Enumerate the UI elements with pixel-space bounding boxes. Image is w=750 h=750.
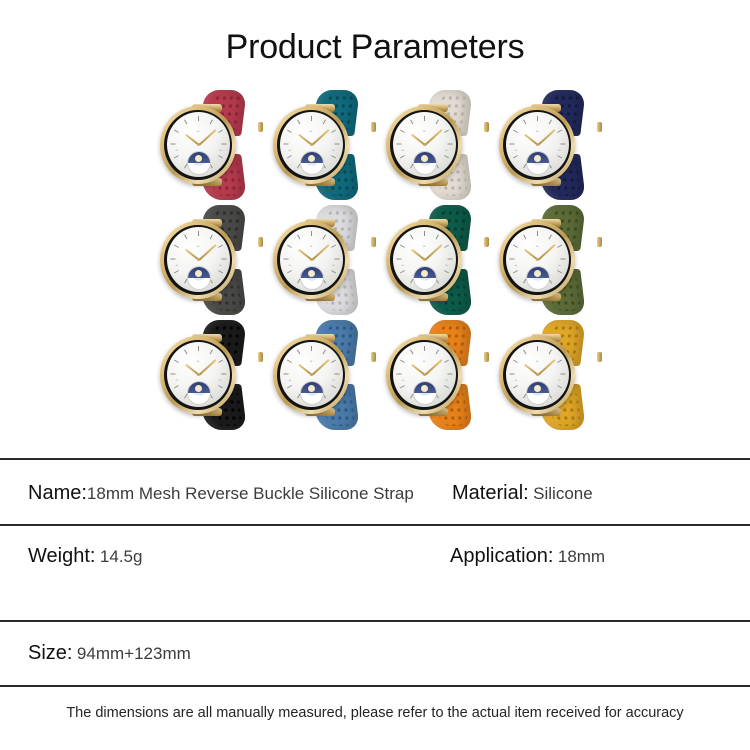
hour-tick <box>331 130 336 133</box>
spec-key-material: Material: <box>452 482 529 504</box>
hour-tick <box>210 120 213 125</box>
hour-tick <box>561 374 566 375</box>
hour-tick <box>297 235 300 240</box>
hour-tick <box>184 120 187 125</box>
moon-disc <box>308 270 315 277</box>
hour-tick <box>444 245 449 248</box>
watch-dial: ••••••••• <box>167 227 230 292</box>
spec-application-group: Application: 18mm <box>450 545 605 568</box>
bezel-ring: ••••••••• <box>164 110 232 180</box>
minute-hand <box>198 244 216 261</box>
hour-tick <box>174 270 179 273</box>
hour-tick <box>523 120 526 125</box>
moon-disc <box>195 155 202 162</box>
watch-dial: ••••••••• <box>393 342 456 407</box>
bezel-ring: ••••••••• <box>277 225 345 295</box>
hour-tick <box>557 155 562 158</box>
spec-value-application: 18mm <box>558 547 605 566</box>
product-variant-gray-strap-watch[interactable]: ••••••••• <box>152 203 264 318</box>
spec-weight-group: Weight: 14.5g <box>28 545 142 568</box>
product-variant-red-strap-watch[interactable]: ••••••••• <box>152 88 264 203</box>
moon-sky <box>527 152 549 163</box>
hour-tick <box>513 130 518 133</box>
watch-illustration: ••••••••• <box>495 207 599 315</box>
moon-disc <box>534 155 541 162</box>
dial-marking: ••• <box>219 263 222 267</box>
hour-tick <box>210 235 213 240</box>
hand-pivot <box>310 258 313 261</box>
dial-marking: ••• <box>176 263 179 267</box>
moon-disc <box>421 270 428 277</box>
watch-illustration: ••••••••• <box>495 322 599 430</box>
hour-tick <box>513 385 518 388</box>
spec-row-name: Name:18mm Mesh Reverse Buckle Silicone S… <box>0 482 750 526</box>
minute-hand <box>311 359 329 376</box>
watch-case: ••••••••• <box>499 106 575 184</box>
hour-tick <box>174 155 179 158</box>
dial-marking: ••• <box>219 148 222 152</box>
bezel-ring: ••••••••• <box>390 110 458 180</box>
hour-tick <box>397 144 402 145</box>
hand-pivot <box>197 143 200 146</box>
moon-sky <box>414 267 436 278</box>
product-variant-teal-strap-watch[interactable]: ••••••••• <box>265 88 377 203</box>
minute-hand <box>424 129 442 146</box>
crown-button <box>597 122 602 132</box>
moon-disc <box>308 385 315 392</box>
hour-tick <box>400 360 405 363</box>
hour-tick <box>174 385 179 388</box>
dial-marking: ••• <box>402 263 405 267</box>
hour-tick <box>513 245 518 248</box>
hour-tick <box>400 270 405 273</box>
moon-phase-subdial <box>526 381 550 405</box>
dial-marking: ••• <box>558 263 561 267</box>
hour-tick <box>557 385 562 388</box>
hour-tick <box>537 231 538 236</box>
bezel-ring: ••••••••• <box>503 225 571 295</box>
hour-tick <box>198 116 199 121</box>
hand-pivot <box>423 373 426 376</box>
watch-case: ••••••••• <box>273 106 349 184</box>
dial-marking: ••• <box>515 378 518 382</box>
watch-illustration: ••••••••• <box>156 207 260 315</box>
dial-marking: ••• <box>445 263 448 267</box>
hour-tick <box>510 259 515 260</box>
hour-tick <box>444 385 449 388</box>
hour-tick <box>287 155 292 158</box>
moon-phase-subdial <box>413 266 437 290</box>
hour-tick <box>174 360 179 363</box>
dial-marking: ••• <box>515 263 518 267</box>
hour-tick <box>410 120 413 125</box>
crown-button <box>597 352 602 362</box>
hour-tick <box>557 130 562 133</box>
hour-tick <box>513 155 518 158</box>
hour-tick <box>557 245 562 248</box>
hour-tick <box>410 350 413 355</box>
watch-illustration: ••••••••• <box>495 92 599 200</box>
bezel-ring: ••••••••• <box>164 225 232 295</box>
divider-after-size <box>0 685 750 687</box>
hour-tick <box>537 116 538 121</box>
hour-tick <box>222 144 227 145</box>
hour-tick <box>171 144 176 145</box>
moon-sky <box>188 382 210 393</box>
moon-sky <box>188 267 210 278</box>
hour-tick <box>198 346 199 351</box>
moon-disc <box>195 270 202 277</box>
dial-marking: ••• <box>310 359 313 363</box>
page-title: Product Parameters <box>0 28 750 67</box>
watch-dial: ••••••••• <box>280 112 343 177</box>
hour-tick <box>171 259 176 260</box>
hour-tick <box>424 116 425 121</box>
hour-tick <box>444 130 449 133</box>
hour-tick <box>198 231 199 236</box>
dial-marking: ••• <box>536 359 539 363</box>
dial-marking: ••• <box>310 129 313 133</box>
moon-phase-subdial <box>187 151 211 175</box>
hour-tick <box>184 235 187 240</box>
watch-dial: ••••••••• <box>393 112 456 177</box>
watch-illustration: ••••••••• <box>382 207 486 315</box>
watch-case: ••••••••• <box>499 336 575 414</box>
product-variant-blue-strap-watch[interactable]: ••••••••• <box>265 318 377 433</box>
moon-sky <box>414 152 436 163</box>
hour-tick <box>410 235 413 240</box>
hour-tick <box>549 350 552 355</box>
hour-tick <box>287 360 292 363</box>
hand-pivot <box>536 258 539 261</box>
moon-sky <box>527 267 549 278</box>
bezel-ring: ••••••••• <box>277 110 345 180</box>
hour-tick <box>335 144 340 145</box>
dial-marking: ••• <box>402 148 405 152</box>
hour-tick <box>287 270 292 273</box>
dial-marking: ••• <box>423 359 426 363</box>
hour-tick <box>397 374 402 375</box>
hour-tick <box>311 116 312 121</box>
product-variant-mustard-strap-watch[interactable]: ••••••••• <box>491 318 603 433</box>
product-color-gallery: ••••••••••••••••••••••••••••••••••••••••… <box>152 88 602 433</box>
hour-tick <box>284 374 289 375</box>
moon-disc <box>421 155 428 162</box>
moon-phase-subdial <box>300 266 324 290</box>
hour-tick <box>510 374 515 375</box>
crown-button <box>258 122 263 132</box>
watch-case: ••••••••• <box>386 221 462 299</box>
crown-button <box>484 352 489 362</box>
hand-pivot <box>197 373 200 376</box>
hour-tick <box>510 144 515 145</box>
hour-tick <box>323 350 326 355</box>
hour-tick <box>400 245 405 248</box>
hour-tick <box>331 245 336 248</box>
spec-key-name: Name: <box>28 482 87 504</box>
hour-tick <box>284 144 289 145</box>
product-variant-black-strap-watch[interactable]: ••••••••• <box>152 318 264 433</box>
hour-tick <box>513 270 518 273</box>
hour-tick <box>331 155 336 158</box>
product-variant-olive-strap-watch[interactable]: ••••••••• <box>491 203 603 318</box>
spec-value-material: Silicone <box>533 484 593 503</box>
hour-tick <box>174 130 179 133</box>
spec-size-group: Size: 94mm+123mm <box>28 642 191 665</box>
divider-after-name <box>0 524 750 526</box>
watch-case: ••••••••• <box>160 336 236 414</box>
hour-tick <box>523 235 526 240</box>
watch-dial: ••••••••• <box>506 227 569 292</box>
watch-illustration: ••••••••• <box>156 92 260 200</box>
hour-tick <box>297 350 300 355</box>
divider-after-weight <box>0 620 750 622</box>
moon-phase-subdial <box>187 266 211 290</box>
hour-tick <box>444 360 449 363</box>
watch-case: ••••••••• <box>160 221 236 299</box>
watch-case: ••••••••• <box>160 106 236 184</box>
moon-sky <box>301 382 323 393</box>
dial-marking: ••• <box>332 263 335 267</box>
spec-name-group: Name:18mm Mesh Reverse Buckle Silicone S… <box>28 482 414 505</box>
hand-pivot <box>536 143 539 146</box>
moon-sky <box>301 267 323 278</box>
measurement-disclaimer: The dimensions are all manually measured… <box>0 705 750 721</box>
hour-tick <box>218 130 223 133</box>
bezel-ring: ••••••••• <box>164 340 232 410</box>
hour-tick <box>218 360 223 363</box>
bezel-ring: ••••••••• <box>390 340 458 410</box>
bezel-ring: ••••••••• <box>503 340 571 410</box>
crown-button <box>258 352 263 362</box>
hour-tick <box>210 350 213 355</box>
dial-marking: ••• <box>423 244 426 248</box>
dial-marking: ••• <box>536 244 539 248</box>
crown-button <box>371 122 376 132</box>
moon-phase-subdial <box>413 381 437 405</box>
hour-tick <box>397 259 402 260</box>
minute-hand <box>198 129 216 146</box>
hour-tick <box>537 346 538 351</box>
watch-dial: ••••••••• <box>393 227 456 292</box>
dial-marking: ••• <box>402 378 405 382</box>
hour-tick <box>297 120 300 125</box>
dial-marking: ••• <box>197 129 200 133</box>
hand-pivot <box>536 373 539 376</box>
hour-tick <box>557 360 562 363</box>
dial-marking: ••• <box>332 148 335 152</box>
hour-tick <box>323 120 326 125</box>
dial-marking: ••• <box>423 129 426 133</box>
hour-tick <box>218 155 223 158</box>
bezel-ring: ••••••••• <box>390 225 458 295</box>
hour-tick <box>436 235 439 240</box>
moon-disc <box>195 385 202 392</box>
minute-hand <box>311 129 329 146</box>
minute-hand <box>424 359 442 376</box>
hour-tick <box>400 130 405 133</box>
hour-tick <box>287 130 292 133</box>
spec-key-size: Size: <box>28 642 72 664</box>
watch-case: ••••••••• <box>499 221 575 299</box>
crown-button <box>484 237 489 247</box>
dial-marking: ••• <box>445 148 448 152</box>
product-variant-navy-strap-watch[interactable]: ••••••••• <box>491 88 603 203</box>
hour-tick <box>287 385 292 388</box>
hour-tick <box>284 259 289 260</box>
dial-marking: ••• <box>197 359 200 363</box>
dial-marking: ••• <box>310 244 313 248</box>
spec-material-group: Material: Silicone <box>452 482 593 505</box>
spec-row-size: Size: 94mm+123mm <box>0 642 750 686</box>
crown-button <box>597 237 602 247</box>
hand-pivot <box>423 143 426 146</box>
spec-value-name: 18mm Mesh Reverse Buckle Silicone Strap <box>87 484 414 503</box>
minute-hand <box>198 359 216 376</box>
hour-tick <box>222 259 227 260</box>
minute-hand <box>537 129 555 146</box>
dial-marking: ••• <box>558 148 561 152</box>
dial-marking: ••• <box>176 148 179 152</box>
hour-tick <box>335 259 340 260</box>
hour-tick <box>184 350 187 355</box>
hour-tick <box>331 270 336 273</box>
moon-sky <box>301 152 323 163</box>
hour-tick <box>549 120 552 125</box>
product-variant-green-strap-watch[interactable]: ••••••••• <box>378 203 490 318</box>
dial-marking: ••• <box>197 244 200 248</box>
hour-tick <box>335 374 340 375</box>
dial-marking: ••• <box>289 148 292 152</box>
moon-sky <box>527 382 549 393</box>
watch-case: ••••••••• <box>273 336 349 414</box>
watch-dial: ••••••••• <box>506 112 569 177</box>
moon-phase-subdial <box>526 266 550 290</box>
hour-tick <box>174 245 179 248</box>
hand-pivot <box>310 373 313 376</box>
crown-button <box>484 122 489 132</box>
hour-tick <box>311 231 312 236</box>
hour-tick <box>424 346 425 351</box>
moon-phase-subdial <box>300 151 324 175</box>
hour-tick <box>523 350 526 355</box>
hour-tick <box>400 385 405 388</box>
moon-sky <box>188 152 210 163</box>
spec-value-weight: 14.5g <box>100 547 143 566</box>
hour-tick <box>331 385 336 388</box>
hour-tick <box>436 120 439 125</box>
crown-button <box>371 352 376 362</box>
hour-tick <box>448 259 453 260</box>
dial-marking: ••• <box>445 378 448 382</box>
watch-illustration: ••••••••• <box>269 92 373 200</box>
hour-tick <box>448 374 453 375</box>
moon-phase-subdial <box>300 381 324 405</box>
hour-tick <box>218 245 223 248</box>
divider-top <box>0 458 750 460</box>
spec-key-application: Application: <box>450 545 553 567</box>
watch-illustration: ••••••••• <box>382 92 486 200</box>
hour-tick <box>424 231 425 236</box>
dial-marking: ••• <box>515 148 518 152</box>
crown-button <box>371 237 376 247</box>
hour-tick <box>222 374 227 375</box>
watch-case: ••••••••• <box>273 221 349 299</box>
minute-hand <box>537 359 555 376</box>
hour-tick <box>444 270 449 273</box>
minute-hand <box>424 244 442 261</box>
moon-phase-subdial <box>413 151 437 175</box>
hour-tick <box>436 350 439 355</box>
watch-illustration: ••••••••• <box>269 322 373 430</box>
hour-tick <box>171 374 176 375</box>
watch-dial: ••••••••• <box>506 342 569 407</box>
moon-phase-subdial <box>187 381 211 405</box>
hand-pivot <box>197 258 200 261</box>
spec-value-size: 94mm+123mm <box>77 644 191 663</box>
watch-dial: ••••••••• <box>280 227 343 292</box>
watch-dial: ••••••••• <box>280 342 343 407</box>
dial-marking: ••• <box>176 378 179 382</box>
moon-phase-subdial <box>526 151 550 175</box>
hour-tick <box>561 259 566 260</box>
moon-disc <box>534 270 541 277</box>
moon-disc <box>534 385 541 392</box>
hour-tick <box>331 360 336 363</box>
watch-illustration: ••••••••• <box>156 322 260 430</box>
product-variant-orange-strap-watch[interactable]: ••••••••• <box>378 318 490 433</box>
watch-case: ••••••••• <box>386 336 462 414</box>
moon-sky <box>414 382 436 393</box>
crown-button <box>258 237 263 247</box>
watch-dial: ••••••••• <box>167 112 230 177</box>
watch-illustration: ••••••••• <box>269 207 373 315</box>
bezel-ring: ••••••••• <box>277 340 345 410</box>
dial-marking: ••• <box>536 129 539 133</box>
moon-disc <box>421 385 428 392</box>
spec-key-weight: Weight: <box>28 545 95 567</box>
hour-tick <box>400 155 405 158</box>
moon-disc <box>308 155 315 162</box>
watch-illustration: ••••••••• <box>382 322 486 430</box>
product-variant-white-strap-watch[interactable]: ••••••••• <box>265 203 377 318</box>
hand-pivot <box>423 258 426 261</box>
watch-dial: ••••••••• <box>167 342 230 407</box>
minute-hand <box>311 244 329 261</box>
minute-hand <box>537 244 555 261</box>
hand-pivot <box>310 143 313 146</box>
dial-marking: ••• <box>332 378 335 382</box>
hour-tick <box>218 385 223 388</box>
hour-tick <box>513 360 518 363</box>
hour-tick <box>549 235 552 240</box>
hour-tick <box>287 245 292 248</box>
hour-tick <box>323 235 326 240</box>
hour-tick <box>444 155 449 158</box>
dial-marking: ••• <box>289 378 292 382</box>
dial-marking: ••• <box>219 378 222 382</box>
hour-tick <box>311 346 312 351</box>
watch-case: ••••••••• <box>386 106 462 184</box>
hour-tick <box>448 144 453 145</box>
dial-marking: ••• <box>558 378 561 382</box>
hour-tick <box>561 144 566 145</box>
hour-tick <box>557 270 562 273</box>
product-variant-beige-strap-watch[interactable]: ••••••••• <box>378 88 490 203</box>
dial-marking: ••• <box>289 263 292 267</box>
spec-row-weight: Weight: 14.5g Application: 18mm <box>0 545 750 589</box>
bezel-ring: ••••••••• <box>503 110 571 180</box>
